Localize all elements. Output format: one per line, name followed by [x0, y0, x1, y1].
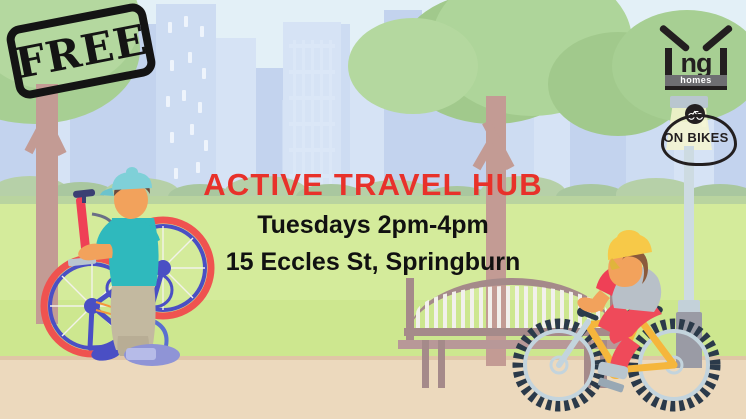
address-line: 15 Eccles St, Springburn: [0, 247, 746, 277]
poster-canvas: FREE ng homes ON BIKES ACTIVE TRAVEL HUB…: [0, 0, 746, 419]
logo-tagline: ON BIKES: [661, 130, 731, 145]
logo-brand-sub: homes: [665, 75, 727, 86]
page-title: ACTIVE TRAVEL HUB: [0, 168, 746, 202]
ng-homes-on-bikes-logo: ng homes ON BIKES: [655, 22, 737, 162]
logo-brand: ng: [665, 50, 727, 77]
schedule-line: Tuesdays 2pm-4pm: [0, 210, 746, 240]
house-outline-icon: ng homes: [665, 24, 727, 90]
